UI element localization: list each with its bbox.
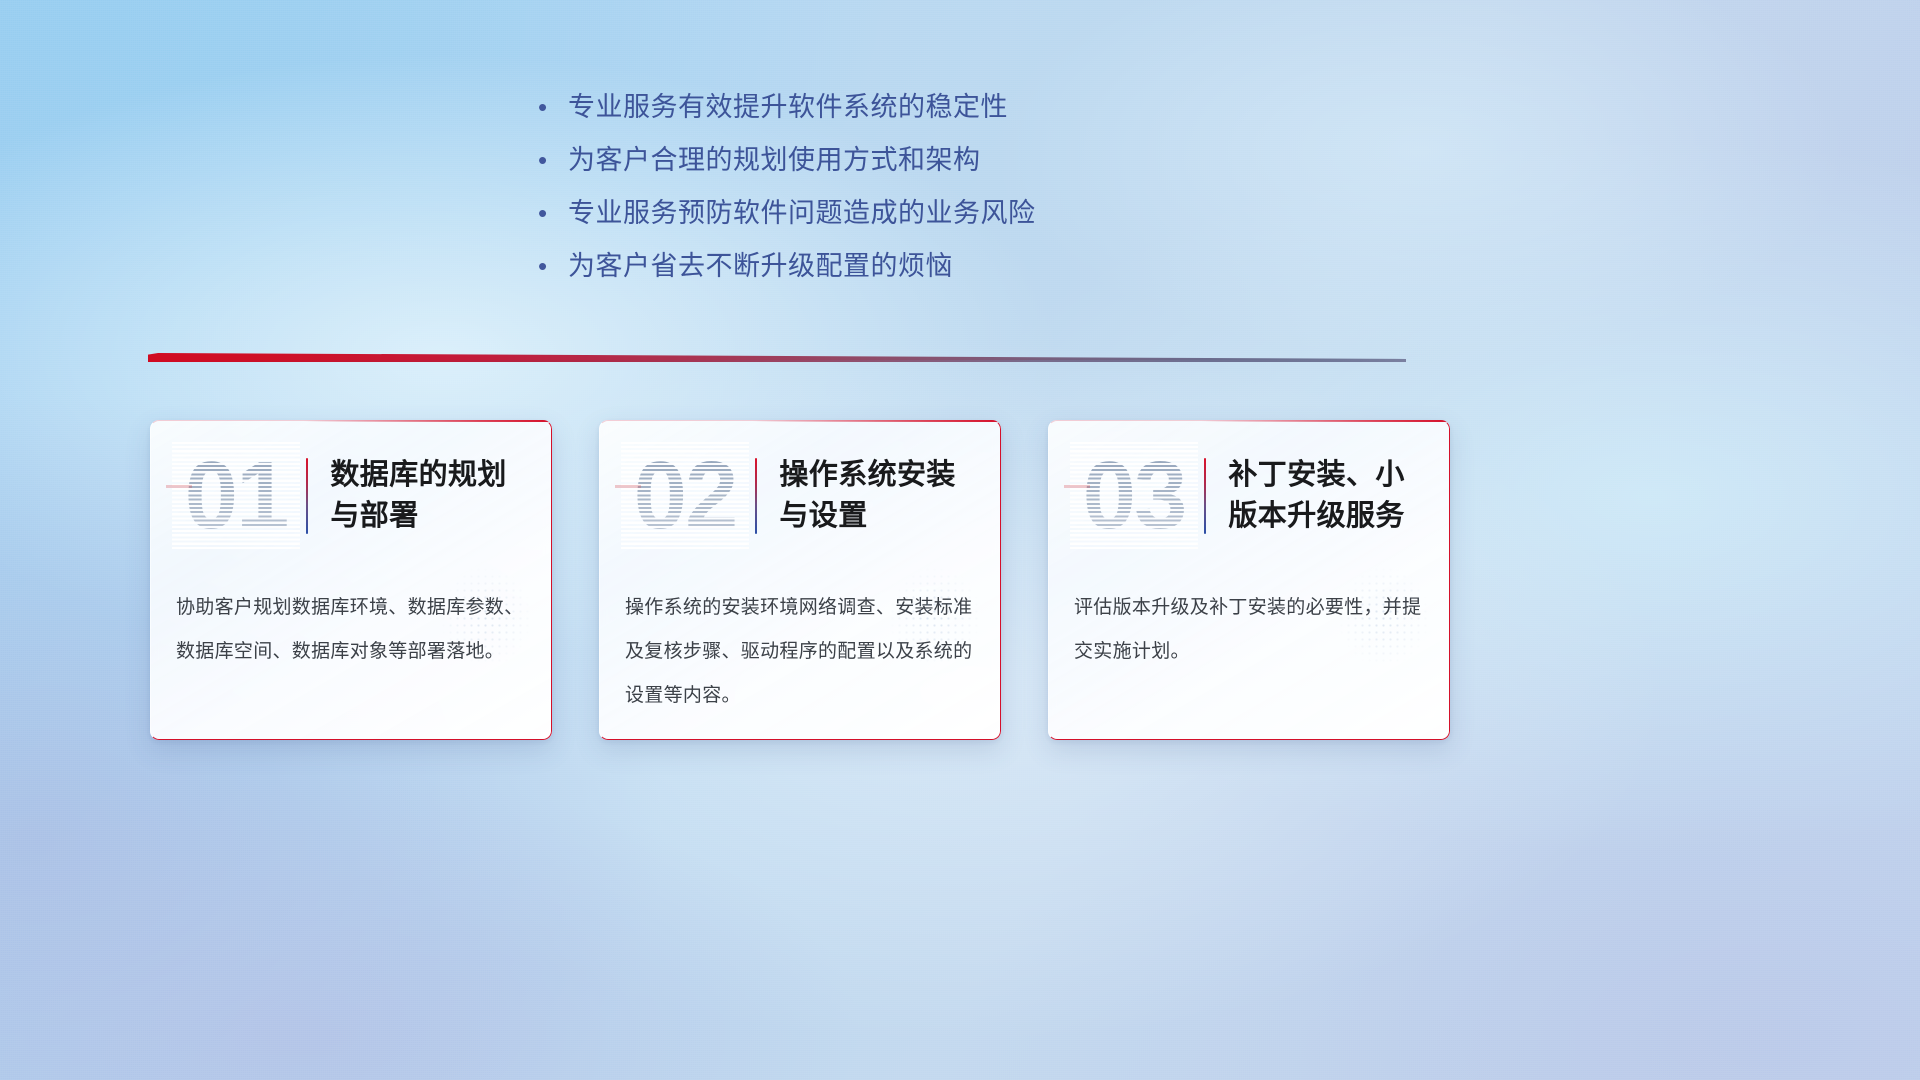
card-description: 协助客户规划数据库环境、数据库参数、数据库空间、数据库对象等部署落地。 bbox=[150, 572, 552, 674]
card-number-watermark: 02 bbox=[621, 441, 749, 551]
card-title-line-2: 与设置 bbox=[779, 496, 955, 537]
card-title-line-1: 操作系统安装 bbox=[779, 455, 955, 496]
card-description: 评估版本升级及补丁安装的必要性，并提交实施计划。 bbox=[1048, 572, 1450, 674]
bullet-text: 专业服务有效提升软件系统的稳定性 bbox=[568, 82, 1008, 132]
bullet-dot-icon: • bbox=[538, 82, 568, 132]
card-title-line-2: 与部署 bbox=[330, 496, 506, 537]
card-divider-bar bbox=[755, 458, 757, 534]
card-title-line-1: 补丁安装、小 bbox=[1228, 455, 1404, 496]
bullet-text: 为客户合理的规划使用方式和架构 bbox=[568, 135, 981, 185]
card-divider-bar bbox=[1204, 458, 1206, 534]
card-title-line-2: 版本升级服务 bbox=[1228, 496, 1404, 537]
card-title: 操作系统安装 与设置 bbox=[779, 455, 955, 537]
bullet-text: 专业服务预防软件问题造成的业务风险 bbox=[568, 188, 1036, 238]
card-header: 03 补丁安装、小 版本升级服务 bbox=[1048, 420, 1450, 572]
bullet-item-3: • 专业服务预防软件问题造成的业务风险 bbox=[538, 188, 1298, 241]
bullet-text: 为客户省去不断升级配置的烦恼 bbox=[568, 241, 953, 291]
bullet-item-1: • 专业服务有效提升软件系统的稳定性 bbox=[538, 82, 1298, 135]
card-divider-bar bbox=[306, 458, 308, 534]
card-number-watermark: 03 bbox=[1070, 441, 1198, 551]
card-number-text: 02 bbox=[621, 441, 749, 551]
service-card[interactable]: 03 补丁安装、小 版本升级服务 评估版本升级及补丁安装的必要性，并提交实施计划… bbox=[1048, 420, 1450, 740]
service-card-row: 01 数据库的规划 与部署 协助客户规划数据库环境、数据库参数、数据库空间、数据… bbox=[150, 420, 1450, 745]
bullet-dot-icon: • bbox=[538, 241, 568, 291]
benefits-bullet-list: • 专业服务有效提升软件系统的稳定性 • 为客户合理的规划使用方式和架构 • 专… bbox=[538, 82, 1298, 294]
service-card[interactable]: 02 操作系统安装 与设置 操作系统的安装环境网络调查、安装标准及复核步骤、驱动… bbox=[599, 420, 1001, 740]
bullet-item-4: • 为客户省去不断升级配置的烦恼 bbox=[538, 241, 1298, 294]
card-number-text: 03 bbox=[1070, 441, 1198, 551]
card-number-text: 01 bbox=[172, 441, 300, 551]
card-number-watermark: 01 bbox=[172, 441, 300, 551]
bullet-dot-icon: • bbox=[538, 188, 568, 238]
bullet-dot-icon: • bbox=[538, 135, 568, 185]
card-header: 02 操作系统安装 与设置 bbox=[599, 420, 1001, 572]
card-header: 01 数据库的规划 与部署 bbox=[150, 420, 552, 572]
card-description: 操作系统的安装环境网络调查、安装标准及复核步骤、驱动程序的配置以及系统的设置等内… bbox=[599, 572, 1001, 718]
service-card[interactable]: 01 数据库的规划 与部署 协助客户规划数据库环境、数据库参数、数据库空间、数据… bbox=[150, 420, 552, 740]
section-divider bbox=[148, 347, 1406, 369]
card-title: 补丁安装、小 版本升级服务 bbox=[1228, 455, 1404, 537]
card-title: 数据库的规划 与部署 bbox=[330, 455, 506, 537]
bullet-item-2: • 为客户合理的规划使用方式和架构 bbox=[538, 135, 1298, 188]
card-title-line-1: 数据库的规划 bbox=[330, 455, 506, 496]
divider-hairline bbox=[148, 360, 1406, 362]
